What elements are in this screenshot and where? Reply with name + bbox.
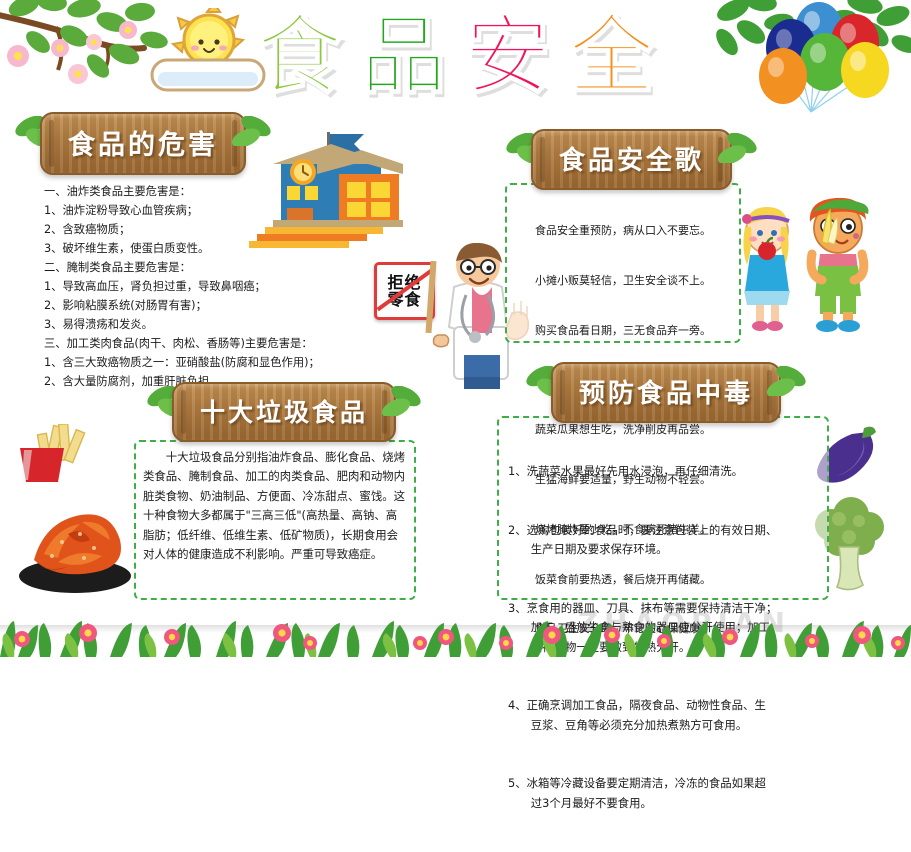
poisoning-item: 1、洗蔬菜水果最好先用水浸泡，再仔细清洗。 xyxy=(508,462,818,482)
song-line: 食品安全重预防，病从口入不要忘。 xyxy=(515,223,731,240)
girl-with-apple-illustration xyxy=(736,205,798,335)
leaf-right-icon xyxy=(226,116,272,146)
section-heading-poisoning: 预防食品中毒 xyxy=(551,362,781,423)
section-heading-hazards: 食品的危害 xyxy=(40,112,246,175)
french-fries-illustration xyxy=(10,424,92,486)
leaf-right-icon xyxy=(761,366,807,396)
hazards-heading-text: 食品的危害 xyxy=(68,123,218,162)
sun-cloud-decoration xyxy=(148,8,268,100)
leaf-right-icon xyxy=(376,386,422,416)
hazards-body-text: 一、油炸类食品主要危害是： 1、油炸淀粉导致心血管疾病； 2、含致癌物质； 3、… xyxy=(44,182,374,391)
junkfood-heading-text: 十大垃圾食品 xyxy=(200,393,368,429)
spicy-snack-plate-illustration xyxy=(14,488,136,598)
title-char-1: 食 xyxy=(257,13,343,99)
boy-with-banana-illustration xyxy=(798,192,876,337)
section-heading-junkfood: 十大垃圾食品 xyxy=(172,382,396,442)
song-line: 购买食品看日期，三无食品弃一旁。 xyxy=(515,323,731,340)
poisoning-item: 4、正确烹调加工食品，隔夜食品、动物性食品、生 豆浆、豆角等必须充分加热煮熟方可… xyxy=(508,696,818,735)
section-heading-song: 食品安全歌 xyxy=(531,129,732,190)
title-char-4: 全 xyxy=(569,13,655,99)
song-line: 小摊小贩莫轻信，卫生安全谈不上。 xyxy=(515,273,731,290)
leaf-right-icon xyxy=(712,133,758,163)
title-char-2: 品 xyxy=(361,13,447,99)
watermark-text: ZHAOPIAN xyxy=(578,606,791,639)
poster-canvas: 食 品 安 全 xyxy=(0,0,911,657)
poisoning-item: 2、选购包装好的食品时，要注意包装上的有效日期、 生产日期及要求保存环境。 xyxy=(508,521,818,560)
poisoning-heading-text: 预防食品中毒 xyxy=(579,373,753,410)
junkfood-body-text: 十大垃圾食品分别指油炸食品、膨化食品、烧烤类食品、腌制食品、加工的肉类食品、肥肉… xyxy=(143,448,405,564)
leaves-top-right-decoration xyxy=(715,0,911,114)
poisoning-item: 5、冰箱等冷藏设备要定期清洁，冷冻的食品如果超 过3个月最好不要食用。 xyxy=(508,774,818,813)
song-heading-text: 食品安全歌 xyxy=(559,140,704,177)
title-char-3: 安 xyxy=(465,13,551,99)
